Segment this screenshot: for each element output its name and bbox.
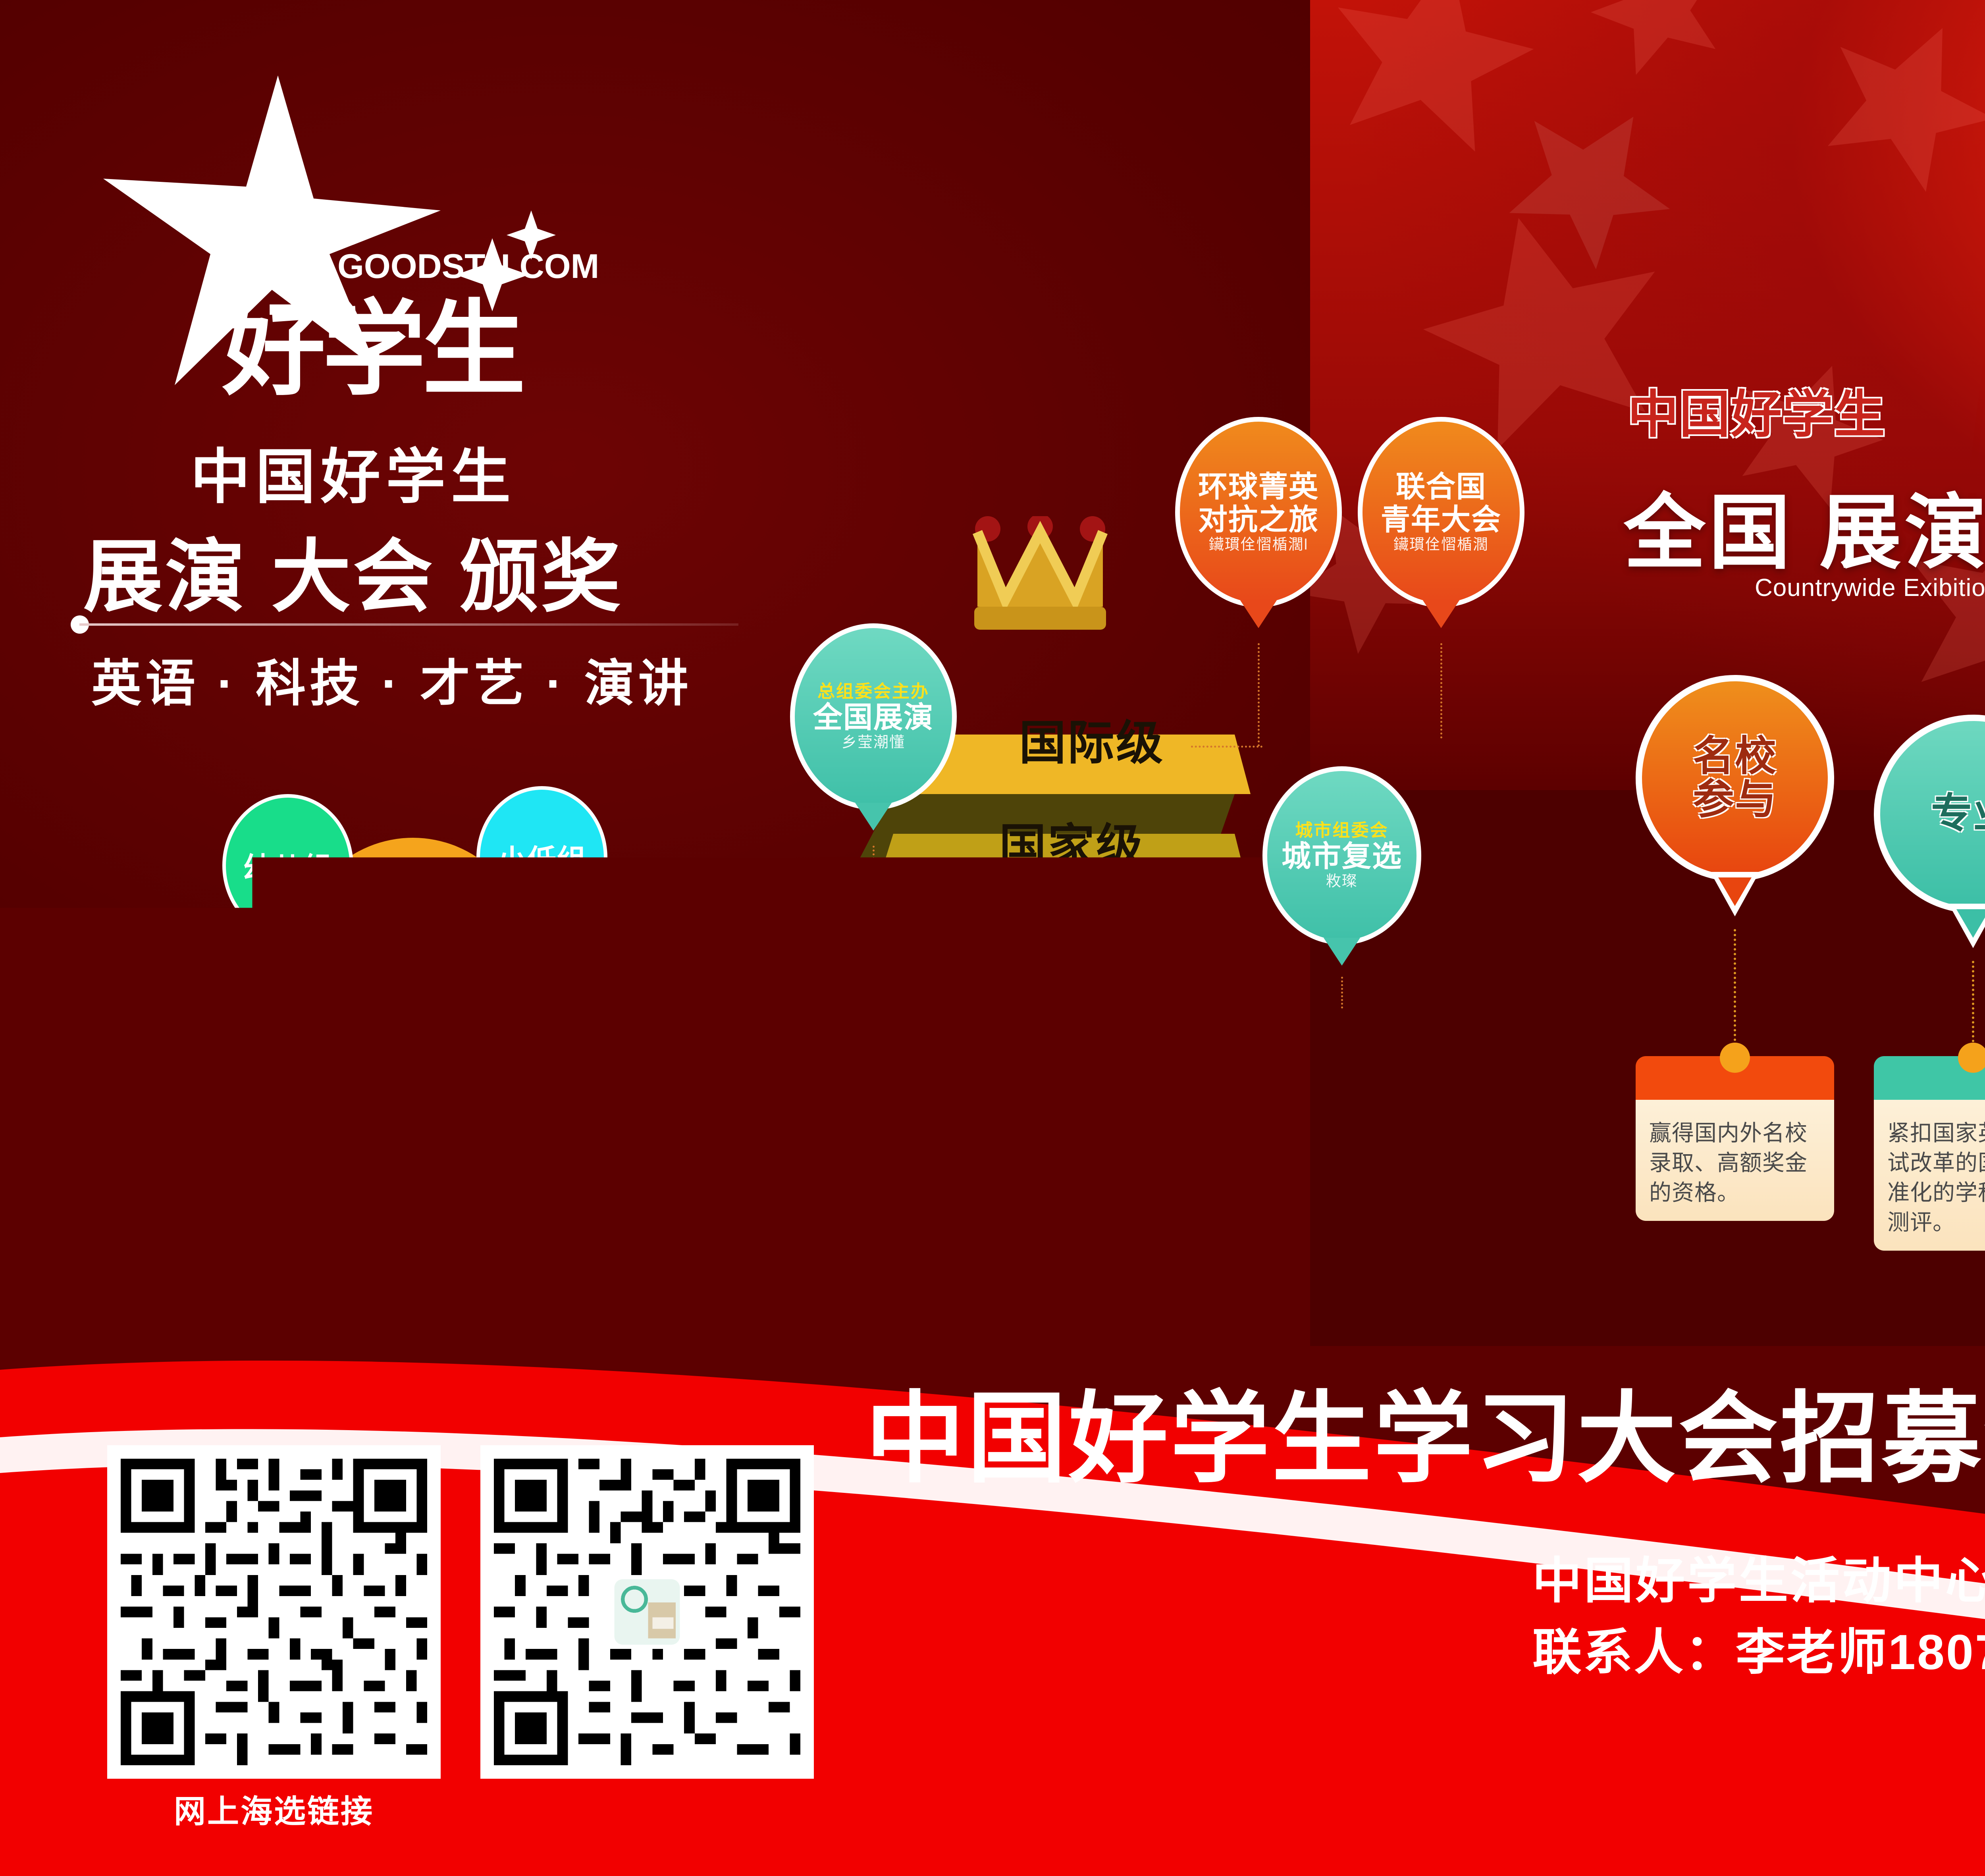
feature-title: 专业	[1931, 792, 1985, 835]
bubble-main-text: 区域海选	[694, 995, 815, 1028]
bubble-main-text: 环球菁英 对抗之旅	[1198, 470, 1319, 536]
bubble-main-text: 全国展演	[813, 701, 934, 734]
connector-dots	[754, 1139, 755, 1215]
feature-balloon: 专业	[1874, 715, 1985, 913]
feature-balloon: 名校 参与	[1636, 675, 1834, 881]
feature-card-top-schools[interactable]: 名校 参与 赢得国内外名校录取、高额奖金的资格。	[1636, 675, 1834, 881]
bubble-sub-text: 鑶瑻佺慴楯濶l	[1209, 536, 1308, 554]
group-circle-preschool[interactable]: 幼儿组	[222, 794, 353, 937]
connector-dots	[1440, 643, 1442, 738]
qr-code-wechat[interactable]	[480, 1445, 814, 1779]
bubble-un-youth[interactable]: 联合国 青年大会 鑶瑻佺慴楯濶	[1358, 417, 1524, 607]
group-label: 初中组	[239, 1035, 329, 1078]
bottom-headline: 中国好学生学习大会招募合作伙伴	[865, 1358, 1985, 1502]
connector-dots	[873, 846, 875, 905]
group-label: 小低组	[497, 837, 587, 879]
feature-detail-card: 紧扣国家英语考试改革的国家标准化的学科能力测评。	[1874, 1056, 1985, 1251]
group-label: 幼儿组	[243, 844, 333, 887]
poster-canvas: 中国 GOODSTU.COM 好学生 中国好学生 展演 大会 颁奖 英语 · 科…	[0, 0, 1985, 1876]
right-subline: Countrywide Exibition, conference and me…	[1755, 574, 1985, 602]
connector-dots	[1341, 977, 1343, 1008]
group-label: 小高组	[497, 1027, 587, 1070]
groups-center-line1: 活动	[364, 900, 462, 953]
feature-cap	[1636, 1056, 1834, 1100]
crown-icon	[969, 516, 1112, 635]
left-divider	[79, 623, 738, 626]
pyramid-level-international[interactable]: 国际级	[945, 699, 1239, 778]
feature-title: 名校 参与	[1693, 735, 1777, 821]
bubble-global-elite[interactable]: 环球菁英 对抗之旅 鑶瑻佺慴楯濶l	[1175, 417, 1342, 607]
feature-body-text: 赢得国内外名校录取、高额奖金的资格。	[1636, 1100, 1834, 1221]
connector-dots	[754, 1214, 873, 1216]
brand-logo: 中国 GOODSTU.COM 好学生	[91, 67, 687, 409]
left-title-line3: 英语 · 科技 · 才艺 · 演讲	[91, 643, 692, 715]
qr-caption-audition: 网上海选链接	[107, 1786, 441, 1832]
activity-groups: 活动 组别 幼儿组 小低组 初中组 小高组	[222, 786, 643, 1124]
logo-main-word: 好学生	[221, 292, 522, 407]
qr-code-audition[interactable]	[107, 1445, 441, 1779]
bubble-sup-text: 总组委会主办	[817, 682, 929, 701]
bubble-sup-text: 活动中心主办	[698, 976, 810, 995]
right-brand-cn: 中国好学生	[1628, 373, 1886, 447]
bubble-sub-text: 鑶瑻佺慴楯濶	[1393, 536, 1489, 554]
connector-dots	[1258, 643, 1260, 746]
pyramid-level-national[interactable]: 国家级	[925, 802, 1219, 881]
feature-body-text: 紧扣国家英语考试改革的国家标准化的学科能力测评。	[1874, 1100, 1985, 1251]
connector-dots	[1191, 746, 1262, 748]
qr-block-audition[interactable]: 网上海选链接	[107, 1445, 441, 1832]
bubble-sub-text: 乡莹潮懂	[842, 734, 905, 752]
bottom-contact: 联系人：李老师18077117616（微信同号）	[1532, 1612, 1985, 1683]
group-circle-upper-primary[interactable]: 小高组	[476, 977, 607, 1120]
bottom-organizer: 中国好学生活动中心广西组委会	[1532, 1541, 1985, 1612]
right-headline: 全国 展演·大会·颁奖	[1624, 467, 1985, 585]
feature-card-professional[interactable]: 专业 紧扣国家英语考试改革的国家标准化的学科能力测评。	[1874, 715, 1985, 913]
feature-knob	[1958, 1043, 1985, 1073]
bubble-national-show[interactable]: 总组委会主办 全国展演 乡莹潮懂	[790, 623, 957, 810]
bubble-city-reselect[interactable]: 城市组委会 城市复选 敉璨	[1262, 766, 1421, 945]
logo-top-word: 中国	[222, 209, 308, 257]
qr-block-wechat[interactable]	[480, 1445, 814, 1786]
connector-dots	[873, 904, 960, 906]
groups-center-line2: 组别	[364, 953, 462, 1006]
bubble-main-text: 城市复选	[1282, 840, 1402, 873]
logo-domain: GOODSTU.COM	[337, 247, 599, 285]
bubble-sub-text: 舼獴物捻	[723, 1028, 786, 1045]
feature-knob	[1720, 1043, 1750, 1073]
feature-detail-card: 赢得国内外名校录取、高额奖金的资格。	[1636, 1056, 1834, 1221]
bubble-sub-text: 敉璨	[1326, 873, 1358, 891]
group-circle-junior-high[interactable]: 初中组	[218, 985, 349, 1128]
left-title-line1: 中国好学生	[191, 429, 516, 515]
bubble-main-text: 联合国 青年大会	[1381, 470, 1501, 536]
bubble-sup-text: 城市组委会	[1295, 821, 1389, 840]
pyramid-level-district[interactable]: 地区级	[873, 1016, 1167, 1096]
feature-cap	[1874, 1056, 1985, 1100]
bubble-regional-audition[interactable]: 活动中心主办 区域海选 舼獴物捻	[671, 917, 838, 1104]
left-title-line2: 展演 大会 颁奖	[83, 512, 623, 627]
pyramid-level-city[interactable]: 城市级	[901, 909, 1195, 989]
group-circle-lower-primary[interactable]: 小低组	[476, 786, 607, 929]
